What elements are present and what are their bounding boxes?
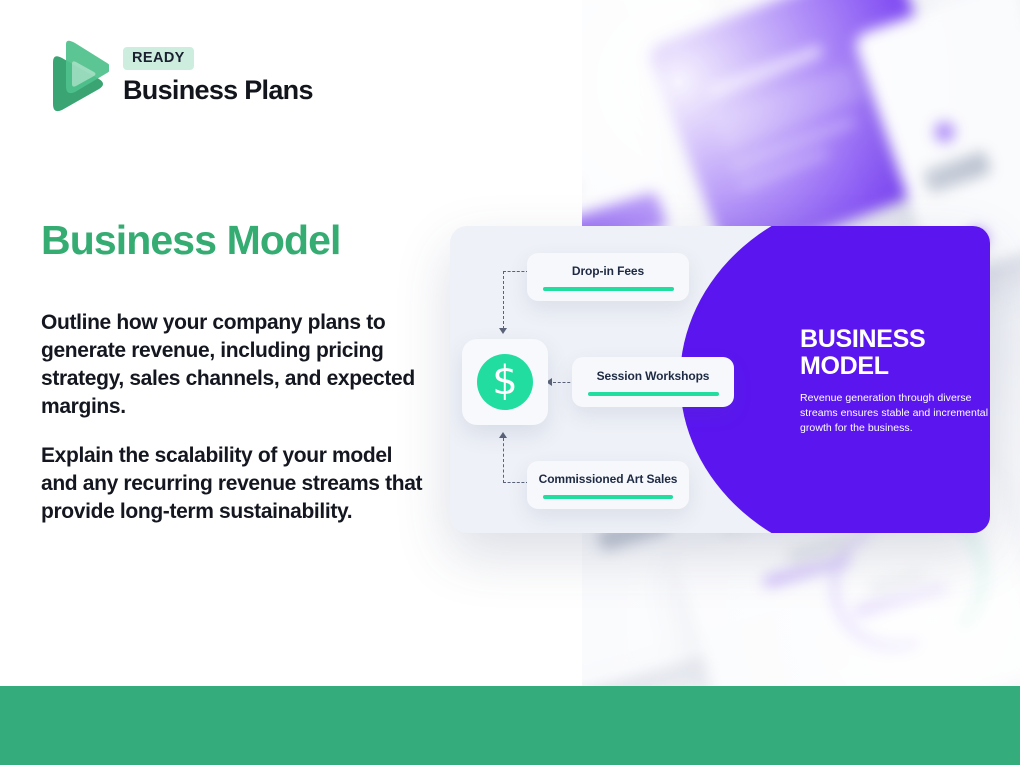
connector-dropin-horizontal xyxy=(503,271,529,272)
dollar-sign-icon-tile: $ xyxy=(462,339,548,425)
revenue-node-underline xyxy=(588,392,719,396)
purple-panel-text: BUSINESS MODEL Revenue generation throug… xyxy=(800,326,990,436)
connector-art-vertical xyxy=(503,438,504,483)
play-triangle-logo-icon xyxy=(41,36,109,116)
purple-panel-title-line-1: BUSINESS xyxy=(800,326,990,353)
revenue-node-label: Drop-in Fees xyxy=(572,264,644,278)
revenue-node-underline xyxy=(543,287,674,291)
purple-panel-description: Revenue generation through diverse strea… xyxy=(800,391,990,436)
revenue-node-label: Commissioned Art Sales xyxy=(539,472,678,486)
dollar-sign-icon: $ xyxy=(477,354,533,410)
bg-body-chip-p1 xyxy=(712,63,866,152)
connector-art-horizontal xyxy=(503,482,529,483)
revenue-node-drop-in-fees[interactable]: Drop-in Fees xyxy=(527,253,689,301)
body-paragraph-1: Outline how your company plans to genera… xyxy=(41,309,433,421)
bg-dot-b1 xyxy=(932,119,957,144)
connector-art-arrow xyxy=(499,432,507,438)
connector-dropin-arrow xyxy=(499,328,507,334)
business-model-preview-card: $ Drop-in Fees Session Workshops Commiss… xyxy=(450,226,990,533)
dollar-sign-glyph: $ xyxy=(492,361,517,401)
purple-panel-title-line-2: MODEL xyxy=(800,353,990,380)
bg-chip-b1 xyxy=(922,150,992,194)
connector-dropin-vertical xyxy=(503,271,504,329)
brand-name: Business Plans xyxy=(123,76,313,104)
revenue-node-label: Session Workshops xyxy=(597,369,710,383)
revenue-node-commissioned-art-sales[interactable]: Commissioned Art Sales xyxy=(527,461,689,509)
page-title: Business Model xyxy=(41,218,341,263)
ready-badge: READY xyxy=(123,47,194,70)
brand-text-block: READY Business Plans xyxy=(123,47,313,104)
slide-canvas: READY Business Plans Business Model Outl… xyxy=(0,0,1020,765)
body-paragraph-2: Explain the scalability of your model an… xyxy=(41,442,433,526)
brand-logo: READY Business Plans xyxy=(41,36,313,116)
revenue-node-session-workshops[interactable]: Session Workshops xyxy=(572,357,734,407)
revenue-node-underline xyxy=(543,495,673,499)
footer-bar xyxy=(0,686,1020,765)
